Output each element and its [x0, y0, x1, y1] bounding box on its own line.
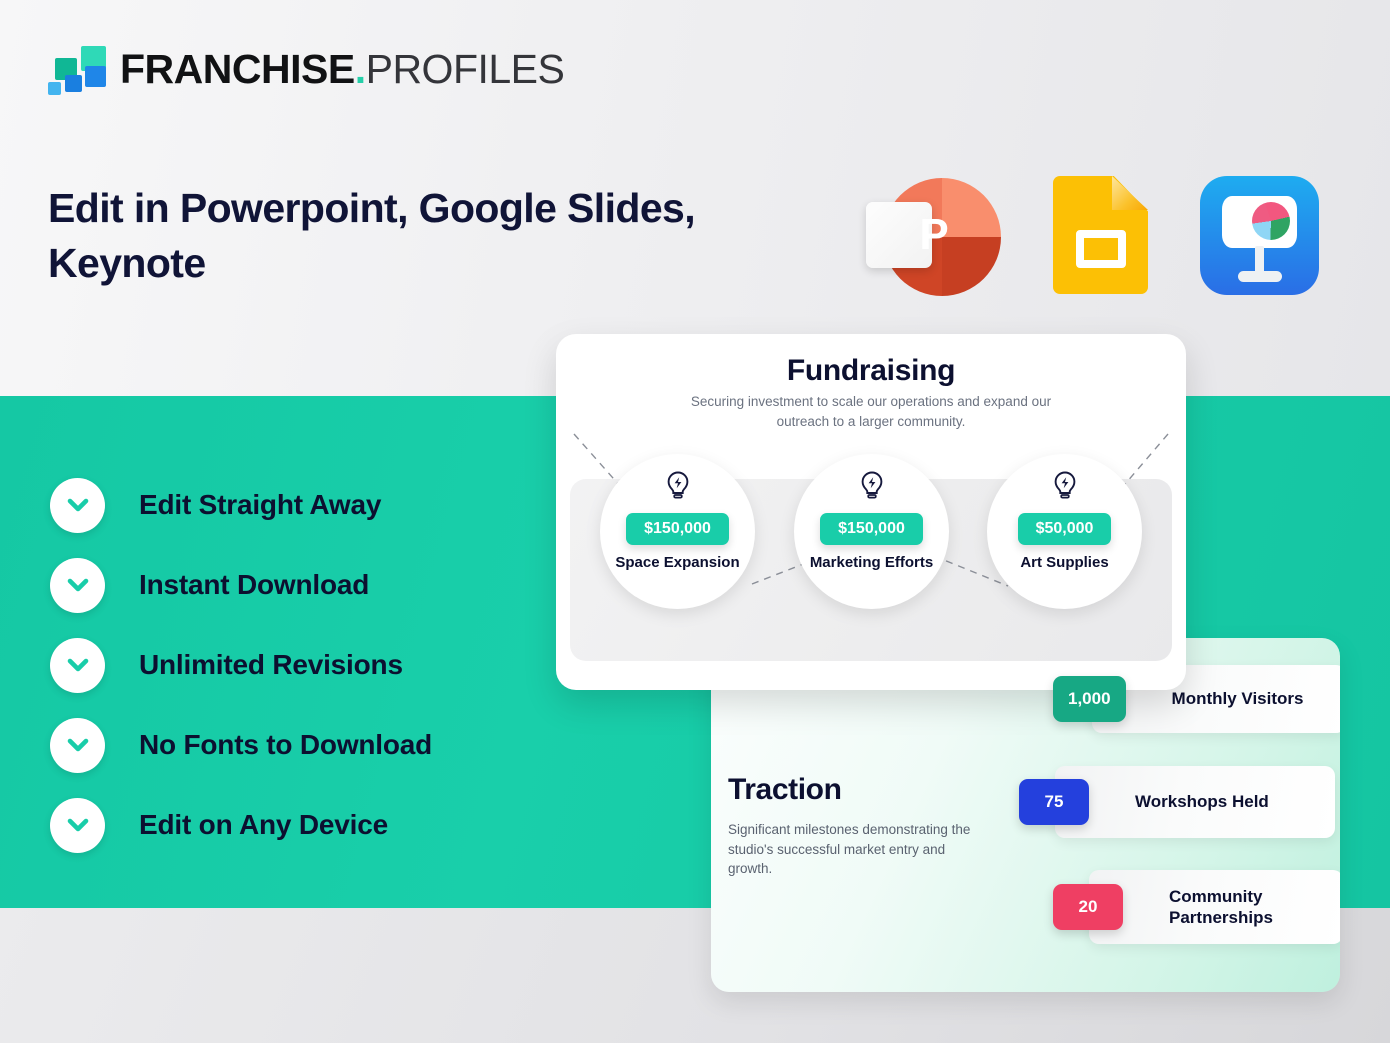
feature-label: Unlimited Revisions: [139, 649, 403, 681]
fundraising-item[interactable]: $150,000 Marketing Efforts: [794, 454, 949, 609]
fundraising-slide-card[interactable]: Fundraising Securing investment to scale…: [556, 334, 1186, 690]
chevron-down-icon: [50, 798, 105, 853]
traction-metric-row: 1,000 Monthly Visitors: [1053, 665, 1340, 733]
powerpoint-icon: P: [866, 172, 1001, 298]
fundraising-item[interactable]: $150,000 Space Expansion: [600, 454, 755, 609]
brand-wordmark: FRANCHISE.PROFILES: [120, 49, 564, 90]
fundraising-amount: $150,000: [626, 513, 729, 545]
feature-list: Edit Straight Away Instant Download Unli…: [50, 465, 432, 865]
feature-item[interactable]: Edit on Any Device: [50, 785, 432, 865]
feature-item[interactable]: Instant Download: [50, 545, 432, 625]
feature-label: Instant Download: [139, 569, 369, 601]
lightbulb-icon: [1051, 470, 1079, 507]
fundraising-category: Space Expansion: [615, 554, 739, 572]
brand-name-light: PROFILES: [366, 46, 565, 92]
chevron-down-icon: [50, 478, 105, 533]
feature-item[interactable]: Edit Straight Away: [50, 465, 432, 545]
feature-label: Edit on Any Device: [139, 809, 388, 841]
app-icons-row: P: [866, 172, 1319, 298]
google-slides-icon: [1053, 176, 1148, 294]
fundraising-item[interactable]: $50,000 Art Supplies: [987, 454, 1142, 609]
fundraising-amount: $50,000: [1018, 513, 1112, 545]
brand-logo[interactable]: FRANCHISE.PROFILES: [48, 44, 564, 94]
traction-metric-row: 75 Workshops Held: [1019, 766, 1335, 838]
chevron-down-icon: [50, 638, 105, 693]
metric-label: Workshops Held: [1055, 766, 1335, 838]
feature-item[interactable]: No Fonts to Download: [50, 705, 432, 785]
metric-value-badge: 1,000: [1053, 676, 1126, 722]
metric-label: Community Partnerships: [1089, 870, 1340, 944]
traction-title: Traction: [728, 773, 842, 807]
feature-item[interactable]: Unlimited Revisions: [50, 625, 432, 705]
fundraising-category: Art Supplies: [1020, 554, 1108, 572]
feature-label: No Fonts to Download: [139, 729, 432, 761]
fundraising-items: $150,000 Space Expansion $150,000 Market…: [556, 334, 1186, 690]
page-title: Edit in Powerpoint, Google Slides, Keyno…: [48, 181, 748, 292]
metric-value-badge: 20: [1053, 884, 1123, 930]
brand-name-bold: FRANCHISE: [120, 46, 355, 92]
powerpoint-letter: P: [906, 206, 962, 264]
traction-metric-row: 20 Community Partnerships: [1053, 870, 1340, 944]
chevron-down-icon: [50, 718, 105, 773]
lightbulb-icon: [858, 470, 886, 507]
fundraising-amount: $150,000: [820, 513, 923, 545]
squares-logo-icon: [48, 44, 106, 94]
feature-label: Edit Straight Away: [139, 489, 381, 521]
traction-slide-card[interactable]: Traction Significant milestones demonstr…: [711, 638, 1340, 992]
lightbulb-icon: [664, 470, 692, 507]
chevron-down-icon: [50, 558, 105, 613]
keynote-icon: [1200, 176, 1319, 295]
traction-subtitle: Significant milestones demonstrating the…: [728, 820, 988, 879]
fundraising-category: Marketing Efforts: [810, 554, 933, 572]
brand-dot: .: [355, 46, 366, 92]
metric-value-badge: 75: [1019, 779, 1089, 825]
